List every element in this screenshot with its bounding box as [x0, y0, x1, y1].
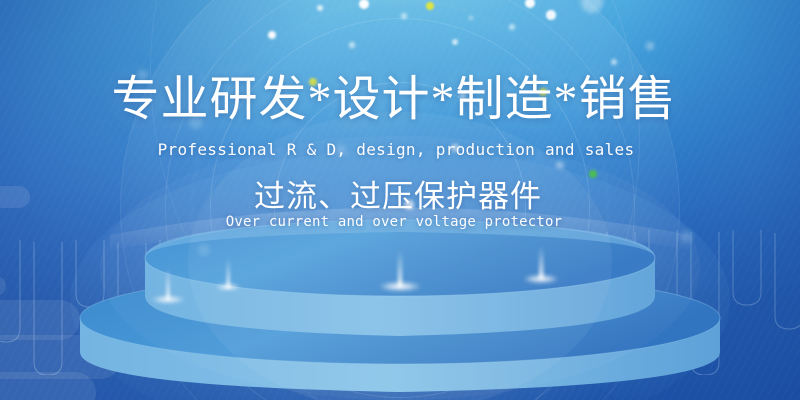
banner-copy: 专业研发*设计*制造*销售 Professional R & D, design… — [0, 0, 800, 400]
promo-banner: 专业研发*设计*制造*销售 Professional R & D, design… — [0, 0, 800, 400]
tagline-english: Over current and over voltage protector — [0, 213, 800, 232]
tagline-chinese: 过流、过压保护器件 — [0, 178, 800, 216]
subtitle-english: Professional R & D, design, production a… — [0, 140, 800, 160]
headline-chinese: 专业研发*设计*制造*销售 — [0, 74, 800, 126]
